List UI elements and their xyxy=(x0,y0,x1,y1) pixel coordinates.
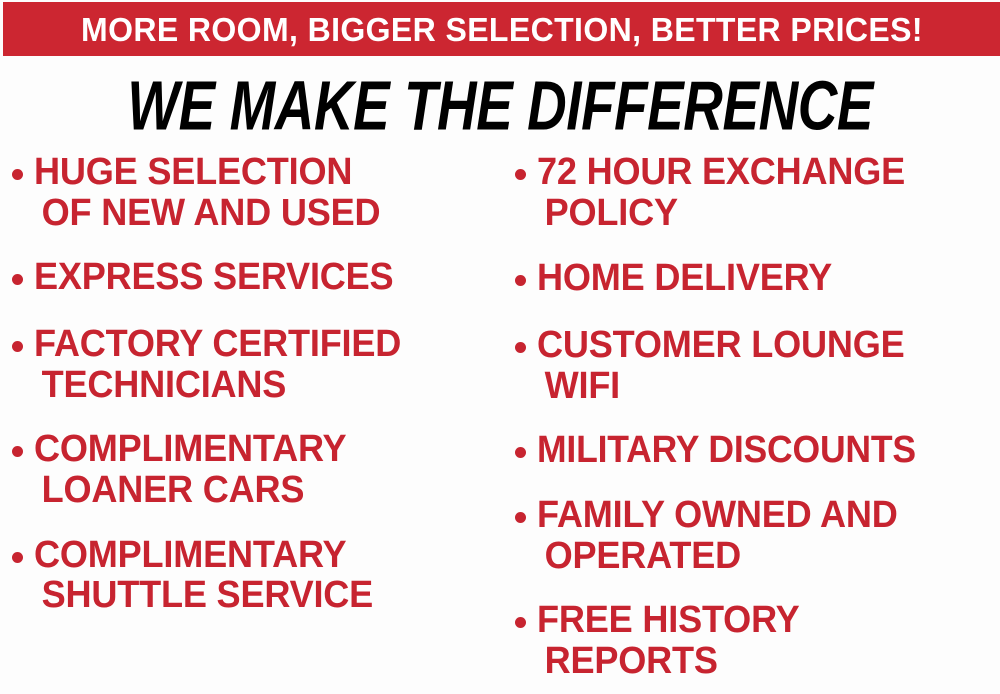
benefit-item-line: EXPRESS SERVICES xyxy=(34,257,393,298)
bullet-dot-icon xyxy=(515,617,526,628)
benefit-item-label: COMPLIMENTARYSHUTTLE SERVICE xyxy=(34,535,373,616)
benefit-item-line: TECHNICIANS xyxy=(34,365,401,406)
benefit-item: FAMILY OWNED ANDOPERATED xyxy=(515,495,1000,576)
benefit-item-line: FACTORY CERTIFIED xyxy=(34,324,401,365)
benefit-item: 72 HOUR EXCHANGEPOLICY xyxy=(515,152,1000,233)
benefit-item-label: MILITARY DISCOUNTS xyxy=(537,430,916,471)
promo-banner: MORE ROOM, BIGGER SELECTION, BETTER PRIC… xyxy=(3,2,1000,56)
bullet-dot-icon xyxy=(12,552,23,563)
benefits-column-right: 72 HOUR EXCHANGEPOLICYHOME DELIVERYCUSTO… xyxy=(515,152,1000,694)
bullet-dot-icon xyxy=(515,447,526,458)
benefit-item-line: 72 HOUR EXCHANGE xyxy=(537,152,905,193)
benefit-item: MILITARY DISCOUNTS xyxy=(515,430,1000,471)
benefit-item-line: COMPLIMENTARY xyxy=(34,535,373,576)
benefit-item-line: OF NEW AND USED xyxy=(34,193,380,234)
benefit-item-line: HUGE SELECTION xyxy=(34,152,380,193)
benefit-item: HUGE SELECTIONOF NEW AND USED xyxy=(12,152,498,233)
benefit-item: CUSTOMER LOUNGEWIFI xyxy=(515,325,1000,406)
benefit-item: COMPLIMENTARYLOANER CARS xyxy=(12,429,498,510)
bullet-dot-icon xyxy=(515,512,526,523)
page-title: WE MAKE THE DIFFERENCE xyxy=(127,70,873,140)
bullet-dot-icon xyxy=(12,169,23,180)
promo-banner-text: MORE ROOM, BIGGER SELECTION, BETTER PRIC… xyxy=(81,13,923,46)
benefit-item-line: WIFI xyxy=(537,366,905,407)
benefit-item-label: FAMILY OWNED ANDOPERATED xyxy=(537,495,898,576)
benefit-item-line: HOME DELIVERY xyxy=(537,258,832,299)
benefit-item-line: MILITARY DISCOUNTS xyxy=(537,430,916,471)
benefit-item: HOME DELIVERY xyxy=(515,258,1000,299)
bullet-dot-icon xyxy=(515,342,526,353)
poster-canvas: MORE ROOM, BIGGER SELECTION, BETTER PRIC… xyxy=(0,0,1000,694)
bullet-dot-icon xyxy=(12,446,23,457)
benefit-item-label: 72 HOUR EXCHANGEPOLICY xyxy=(537,152,905,233)
bullet-dot-icon xyxy=(12,274,23,285)
benefit-item-label: EXPRESS SERVICES xyxy=(34,257,393,298)
benefit-item-label: COMPLIMENTARYLOANER CARS xyxy=(34,429,346,510)
benefit-item-line: FREE HISTORY xyxy=(537,600,799,641)
bullet-dot-icon xyxy=(515,275,526,286)
benefit-item-line: CUSTOMER LOUNGE xyxy=(537,325,905,366)
benefit-item: FREE HISTORYREPORTS xyxy=(515,600,1000,681)
bullet-dot-icon xyxy=(12,341,23,352)
benefit-item-line: LOANER CARS xyxy=(34,470,346,511)
benefit-item-line: REPORTS xyxy=(537,641,799,682)
benefit-item-label: FREE HISTORYREPORTS xyxy=(537,600,799,681)
benefit-item-label: FACTORY CERTIFIEDTECHNICIANS xyxy=(34,324,401,405)
benefit-item: FACTORY CERTIFIEDTECHNICIANS xyxy=(12,324,498,405)
benefit-item-label: CUSTOMER LOUNGEWIFI xyxy=(537,325,905,406)
headline-container: WE MAKE THE DIFFERENCE xyxy=(0,70,1000,140)
benefit-item-line: SHUTTLE SERVICE xyxy=(34,575,373,616)
benefits-columns: HUGE SELECTIONOF NEW AND USEDEXPRESS SER… xyxy=(0,152,1000,694)
benefit-item-label: HOME DELIVERY xyxy=(537,258,832,299)
benefit-item-line: FAMILY OWNED AND xyxy=(537,495,898,536)
benefit-item-line: OPERATED xyxy=(537,536,898,577)
benefit-item: EXPRESS SERVICES xyxy=(12,257,498,298)
benefit-item-line: POLICY xyxy=(537,193,905,234)
benefit-item: COMPLIMENTARYSHUTTLE SERVICE xyxy=(12,535,498,616)
bullet-dot-icon xyxy=(515,169,526,180)
benefit-item-line: COMPLIMENTARY xyxy=(34,429,346,470)
benefit-item-label: HUGE SELECTIONOF NEW AND USED xyxy=(34,152,380,233)
benefits-column-left: HUGE SELECTIONOF NEW AND USEDEXPRESS SER… xyxy=(12,152,498,638)
